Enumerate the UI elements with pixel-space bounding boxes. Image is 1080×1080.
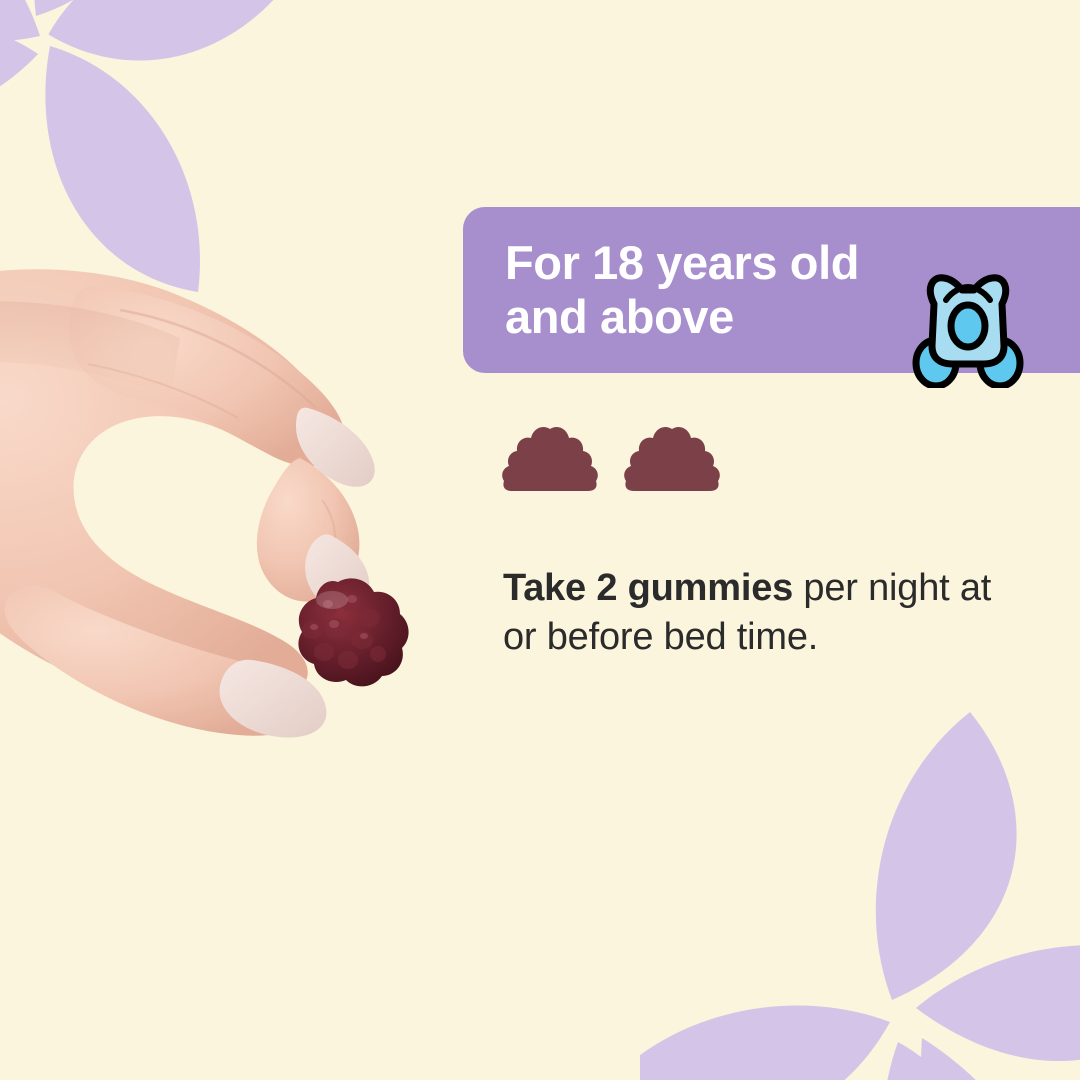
leaf-cluster-bottomright bbox=[640, 670, 1080, 1080]
age-requirement-text: For 18 years old and above bbox=[505, 236, 859, 343]
gummy-glyph-2 bbox=[624, 421, 720, 497]
dosage-emphasis: Take 2 gummies bbox=[503, 567, 793, 609]
dosage-instruction: Take 2 gummies per night at or before be… bbox=[503, 564, 1033, 661]
hand-holding-gummy-photo bbox=[0, 268, 440, 808]
gummy-bear-icon bbox=[912, 268, 1024, 388]
gummy-glyph-1 bbox=[502, 421, 598, 497]
instruction-card: For 18 years old and above bbox=[0, 0, 1080, 1080]
gummy-count-row bbox=[502, 421, 720, 497]
